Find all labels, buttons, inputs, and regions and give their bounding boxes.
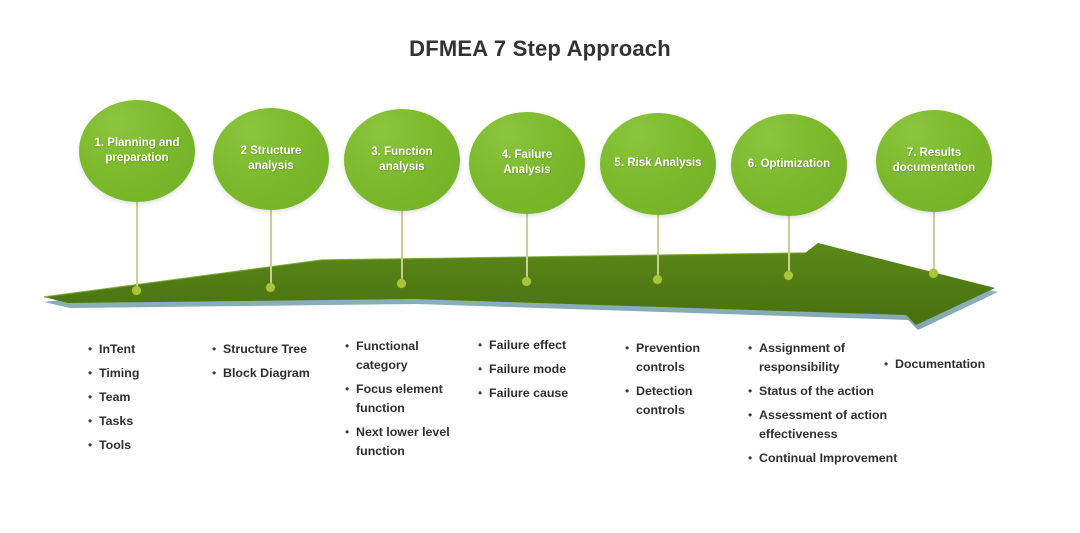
bullet-text: Focus element function (356, 380, 457, 418)
step-circle-7[interactable]: 7. Results documentation (876, 110, 992, 212)
connector-line-6 (788, 214, 790, 275)
step-label-5: 5. Risk Analysis (605, 156, 710, 171)
step-circle-6[interactable]: 6. Optimization (731, 114, 847, 216)
connector-dot-7 (929, 269, 938, 278)
step-node-3[interactable]: 3. Function analysis (344, 109, 460, 211)
list-item: •Failure effect (478, 336, 588, 355)
bullet-dot-icon: • (212, 364, 223, 383)
list-item: •Timing (88, 364, 198, 383)
bullet-text: Team (99, 388, 130, 407)
arrow-thickness-face (44, 248, 998, 330)
connector-dot-5 (653, 275, 662, 284)
bullet-dot-icon: • (748, 382, 759, 401)
connector-dot-2 (266, 283, 275, 292)
list-item: •Documentation (884, 355, 1014, 374)
bullet-text: InTent (99, 340, 135, 359)
list-item: •Continual Improvement (748, 449, 898, 468)
step-circle-2[interactable]: 2 Structure analysis (213, 108, 329, 210)
bullet-text: Timing (99, 364, 139, 383)
step-label-3: 3. Function analysis (344, 145, 460, 175)
bullet-text: Structure Tree (223, 340, 307, 359)
bullet-dot-icon: • (345, 423, 356, 442)
bullet-dot-icon: • (88, 412, 99, 431)
bullet-text: Failure effect (489, 336, 566, 355)
bullet-dot-icon: • (478, 384, 489, 403)
step-node-2[interactable]: 2 Structure analysis (213, 108, 329, 210)
step-label-1: 1. Planning and preparation (79, 136, 195, 166)
bullet-column-step-5: •Prevention controls•Detection controls (625, 339, 735, 425)
list-item: •Tasks (88, 412, 198, 431)
bullet-text: Documentation (895, 355, 985, 374)
connector-dot-1 (132, 286, 141, 295)
bullet-column-step-4: •Failure effect•Failure mode•Failure cau… (478, 336, 588, 408)
bullet-text: Continual Improvement (759, 449, 897, 468)
list-item: •Detection controls (625, 382, 735, 420)
step-label-7: 7. Results documentation (876, 146, 992, 176)
list-item: •Failure cause (478, 384, 588, 403)
bullet-dot-icon: • (748, 406, 759, 425)
bullet-dot-icon: • (625, 382, 636, 401)
list-item: •Structure Tree (212, 340, 322, 359)
bullet-dot-icon: • (625, 339, 636, 358)
list-item: •Prevention controls (625, 339, 735, 377)
bullet-text: Status of the action (759, 382, 874, 401)
arrow-edge-highlight (44, 253, 805, 297)
bullet-text: Failure mode (489, 360, 566, 379)
arrow-top-face (44, 243, 995, 325)
bullet-dot-icon: • (88, 388, 99, 407)
bullet-text: Tasks (99, 412, 133, 431)
step-circle-4[interactable]: 4. Failure Analysis (469, 112, 585, 214)
bullet-column-step-3: •Functional category•Focus element funct… (345, 337, 457, 466)
page-title: DFMEA 7 Step Approach (0, 36, 1080, 62)
connector-dot-6 (784, 271, 793, 280)
list-item: •Functional category (345, 337, 457, 375)
step-circle-1[interactable]: 1. Planning and preparation (79, 100, 195, 202)
step-label-2: 2 Structure analysis (213, 144, 329, 174)
list-item: •Assignment of responsibility (748, 339, 898, 377)
bullet-dot-icon: • (884, 355, 895, 374)
list-item: •Focus element function (345, 380, 457, 418)
connector-dot-4 (522, 277, 531, 286)
connector-line-7 (933, 210, 935, 273)
bullet-text: Next lower level function (356, 423, 457, 461)
connector-dot-3 (397, 279, 406, 288)
bullet-dot-icon: • (478, 360, 489, 379)
step-node-5[interactable]: 5. Risk Analysis (600, 113, 716, 215)
list-item: •Tools (88, 436, 198, 455)
bullet-dot-icon: • (212, 340, 223, 359)
connector-line-1 (136, 200, 138, 290)
step-node-4[interactable]: 4. Failure Analysis (469, 112, 585, 214)
list-item: •InTent (88, 340, 198, 359)
step-node-1[interactable]: 1. Planning and preparation (79, 100, 195, 202)
bullet-column-step-2: •Structure Tree•Block Diagram (212, 340, 322, 388)
bullet-dot-icon: • (88, 436, 99, 455)
list-item: •Team (88, 388, 198, 407)
bullet-dot-icon: • (478, 336, 489, 355)
bullet-dot-icon: • (748, 449, 759, 468)
bullet-dot-icon: • (345, 337, 356, 356)
bullet-text: Detection controls (636, 382, 735, 420)
diagram-canvas: DFMEA 7 Step Approach 1. Planning and pr… (0, 0, 1080, 533)
step-node-7[interactable]: 7. Results documentation (876, 110, 992, 212)
connector-line-4 (526, 212, 528, 281)
bullet-dot-icon: • (748, 339, 759, 358)
list-item: •Failure mode (478, 360, 588, 379)
step-label-4: 4. Failure Analysis (469, 148, 585, 178)
connector-line-5 (657, 213, 659, 279)
step-circle-3[interactable]: 3. Function analysis (344, 109, 460, 211)
bullet-text: Failure cause (489, 384, 568, 403)
step-node-6[interactable]: 6. Optimization (731, 114, 847, 216)
list-item: •Block Diagram (212, 364, 322, 383)
bullet-text: Assessment of action effectiveness (759, 406, 898, 444)
bullet-text: Assignment of responsibility (759, 339, 898, 377)
list-item: •Next lower level function (345, 423, 457, 461)
bullet-text: Prevention controls (636, 339, 735, 377)
bullet-text: Functional category (356, 337, 457, 375)
step-label-6: 6. Optimization (739, 157, 839, 172)
bullet-column-step-7: •Documentation (884, 355, 1014, 379)
step-circle-5[interactable]: 5. Risk Analysis (600, 113, 716, 215)
bullet-column-step-1: •InTent•Timing•Team•Tasks•Tools (88, 340, 198, 460)
bullet-dot-icon: • (345, 380, 356, 399)
bullet-text: Tools (99, 436, 131, 455)
list-item: •Assessment of action effectiveness (748, 406, 898, 444)
bullet-column-step-6: •Assignment of responsibility•Status of … (748, 339, 898, 473)
connector-line-3 (401, 209, 403, 283)
bullet-text: Block Diagram (223, 364, 310, 383)
bullet-dot-icon: • (88, 364, 99, 383)
list-item: •Status of the action (748, 382, 898, 401)
connector-line-2 (270, 208, 272, 287)
bullet-dot-icon: • (88, 340, 99, 359)
